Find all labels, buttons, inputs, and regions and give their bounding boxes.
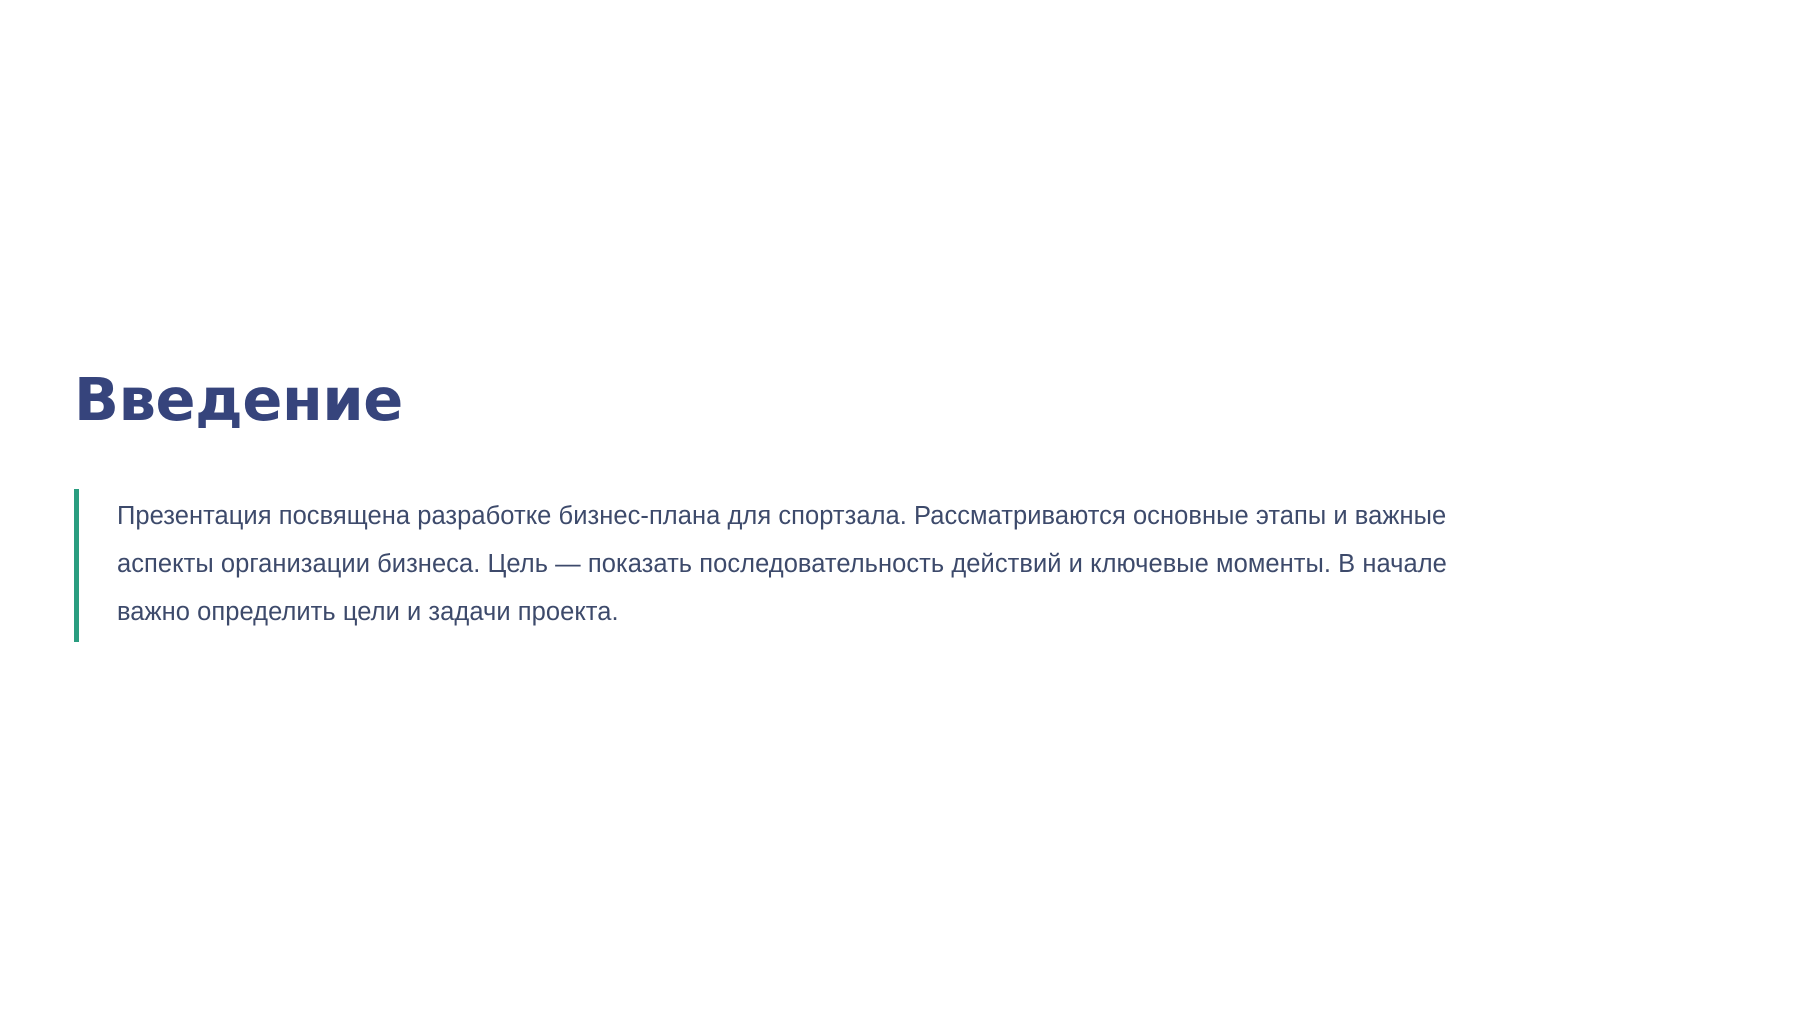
body-paragraph: Презентация посвящена разработке бизнес-… [79, 489, 1499, 642]
presentation-slide: Введение Презентация посвящена разработк… [0, 0, 1800, 1013]
body-content-block: Презентация посвящена разработке бизнес-… [74, 489, 1734, 642]
page-title: Введение [74, 368, 403, 432]
